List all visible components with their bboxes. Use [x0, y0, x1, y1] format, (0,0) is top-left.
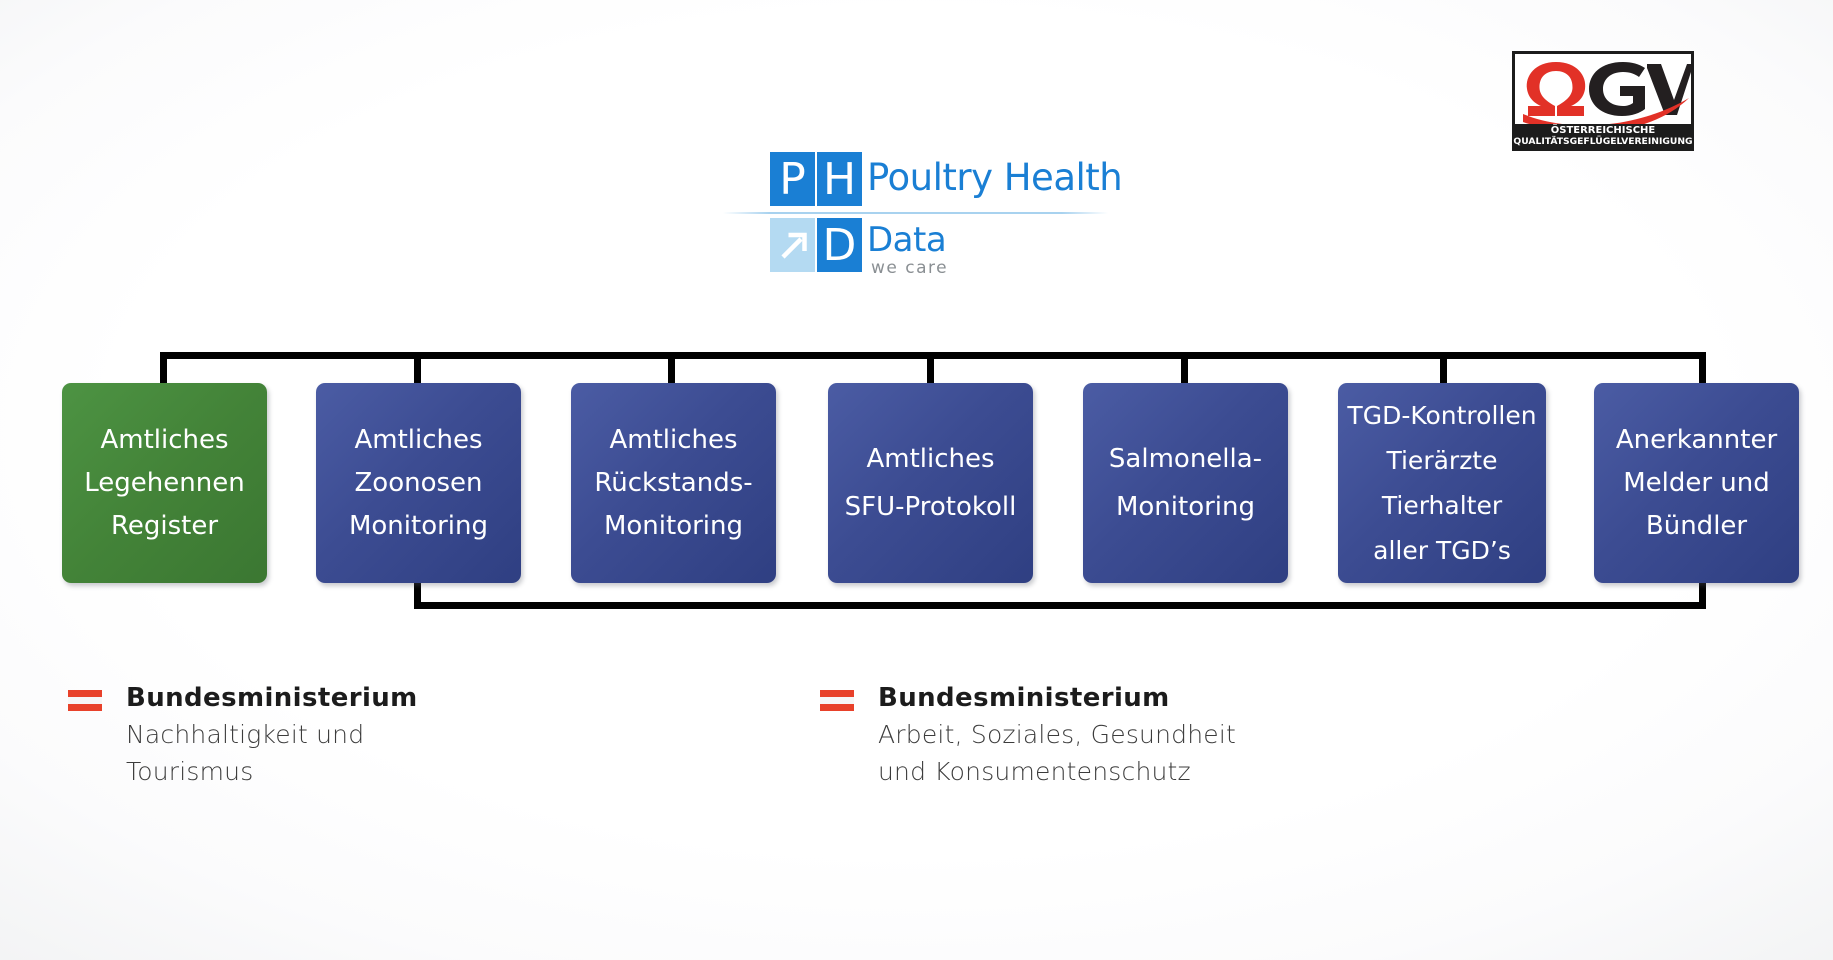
diagonal-arrow-up-right-icon: [770, 218, 815, 272]
qgv-logo: ÖSTERREICHISCHE QUALITÄTSGEFLÜGELVEREINI…: [1512, 51, 1694, 151]
connector-top-stub-1: [160, 352, 167, 384]
connector-top-stub-4: [927, 352, 934, 384]
logo-tile-p: P: [770, 152, 815, 206]
logo-tile-d: D: [817, 218, 862, 272]
node-line: Rückstands-: [577, 462, 770, 505]
node-line: Monitoring: [577, 505, 770, 548]
logo-divider-line: [723, 212, 1108, 214]
node-line: Amtliches: [322, 419, 515, 462]
ministry-subtitle-line: Nachhaltigkeit und: [126, 716, 588, 753]
node-line: Monitoring: [322, 505, 515, 548]
connector-top-stub-3: [668, 352, 675, 384]
node-line: Monitoring: [1089, 483, 1282, 531]
node-line: Amtliches: [577, 419, 770, 462]
node-line: Bündler: [1600, 505, 1793, 548]
node-line: Anerkannter: [1600, 419, 1793, 462]
austria-flag-icon: [68, 690, 102, 712]
node-legehennen-register[interactable]: Amtliches Legehennen Register: [62, 383, 267, 583]
connector-top-stub-2: [414, 352, 421, 384]
node-line: Tierärzte: [1344, 438, 1540, 483]
ministry-subtitle-line: Arbeit, Soziales, Gesundheit: [878, 716, 1460, 753]
qgv-logo-mark: [1515, 54, 1691, 124]
connector-top-stub-7: [1699, 352, 1706, 384]
ministry-arbeit-soziales: Bundesministerium Arbeit, Soziales, Gesu…: [820, 680, 1460, 790]
ministry-subtitle-line: Tourismus: [126, 753, 588, 790]
node-line: Zoonosen: [322, 462, 515, 505]
arrow-svg: [775, 227, 811, 263]
connector-top-stub-6: [1440, 352, 1447, 384]
qgv-caption-line2: QUALITÄTSGEFLÜGELVEREINIGUNG: [1512, 135, 1694, 148]
connector-bottom-rail: [414, 602, 1706, 609]
connector-top-stub-5: [1181, 352, 1188, 384]
node-line: Salmonella-: [1089, 435, 1282, 483]
node-zoonosen-monitoring[interactable]: Amtliches Zoonosen Monitoring: [316, 383, 521, 583]
node-anerkannter-melder[interactable]: Anerkannter Melder und Bündler: [1594, 383, 1799, 583]
node-line: Register: [68, 505, 261, 548]
logo-wordmark-poultry-health: Poultry Health: [867, 156, 1122, 199]
node-tgd-kontrollen[interactable]: TGD-Kontrollen Tierärzte Tierhalter alle…: [1338, 383, 1546, 583]
node-line: SFU-Protokoll: [834, 483, 1027, 531]
slide-canvas: ÖSTERREICHISCHE QUALITÄTSGEFLÜGELVEREINI…: [0, 0, 1833, 960]
ministry-title: Bundesministerium: [126, 680, 588, 716]
ministry-title: Bundesministerium: [878, 680, 1460, 716]
austria-flag-icon: [820, 690, 854, 712]
poultry-health-data-logo: P H D Poultry Health Data we care: [770, 150, 1170, 280]
node-line: TGD-Kontrollen: [1344, 393, 1540, 438]
node-line: Legehennen: [68, 462, 261, 505]
ministry-nachhaltigkeit: Bundesministerium Nachhaltigkeit und Tou…: [68, 680, 588, 790]
qgv-mark-svg: [1515, 54, 1691, 124]
logo-wordmark-data: Data: [867, 220, 946, 260]
node-salmonella-monitoring[interactable]: Salmonella- Monitoring: [1083, 383, 1288, 583]
node-line: Amtliches: [68, 419, 261, 462]
node-line: Amtliches: [834, 435, 1027, 483]
node-line: Tierhalter: [1344, 483, 1540, 528]
node-rueckstands-monitoring[interactable]: Amtliches Rückstands- Monitoring: [571, 383, 776, 583]
ministry-subtitle-line: und Konsumentenschutz: [878, 753, 1460, 790]
logo-tile-h: H: [817, 152, 862, 206]
logo-tagline: we care: [871, 258, 948, 278]
node-line: aller TGD’s: [1344, 528, 1540, 573]
node-sfu-protokoll[interactable]: Amtliches SFU-Protokoll: [828, 383, 1033, 583]
node-line: Melder und: [1600, 462, 1793, 505]
